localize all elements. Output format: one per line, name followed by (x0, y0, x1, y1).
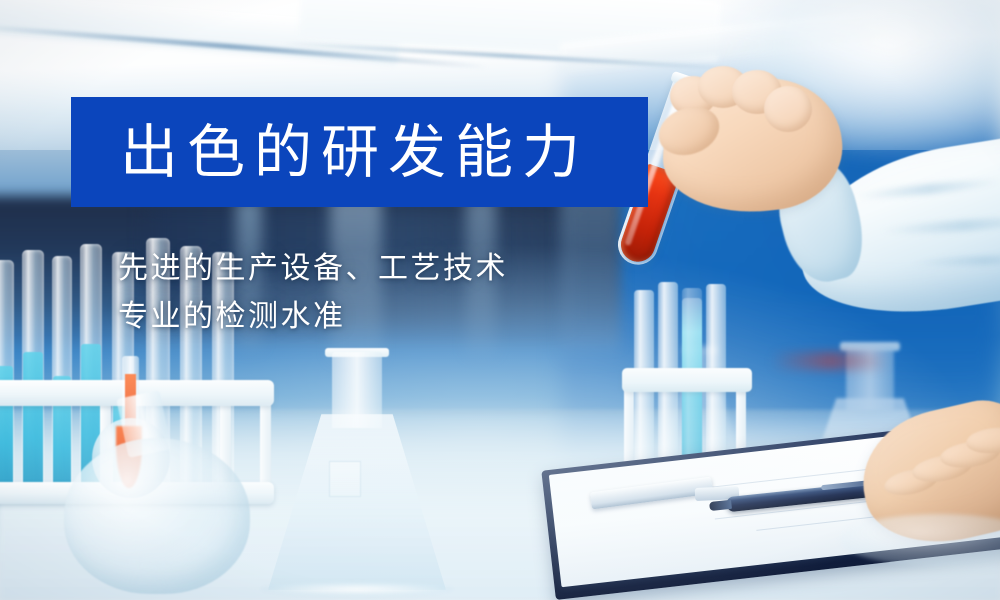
rack-bar-top (622, 368, 752, 392)
background-red-object (770, 352, 890, 370)
lab-banner: 出色的研发能力 先进的生产设备、工艺技术 专业的检测水准 (0, 0, 1000, 600)
test-tube (0, 260, 14, 496)
subtitle-line-1: 先进的生产设备、工艺技术 (118, 245, 678, 293)
subtitle-line-2: 专业的检测水准 (118, 293, 678, 341)
finger (764, 86, 812, 132)
test-tube (22, 250, 44, 496)
flask-label (329, 461, 361, 497)
subtitle: 先进的生产设备、工艺技术 专业的检测水准 (118, 245, 678, 341)
headline-block: 出色的研发能力 (71, 97, 648, 207)
round-bottom-flask (64, 416, 250, 594)
erlenmeyer-flask-front (268, 352, 446, 590)
hand-holding-test-tube (648, 52, 1000, 352)
page-title: 出色的研发能力 (71, 123, 589, 181)
